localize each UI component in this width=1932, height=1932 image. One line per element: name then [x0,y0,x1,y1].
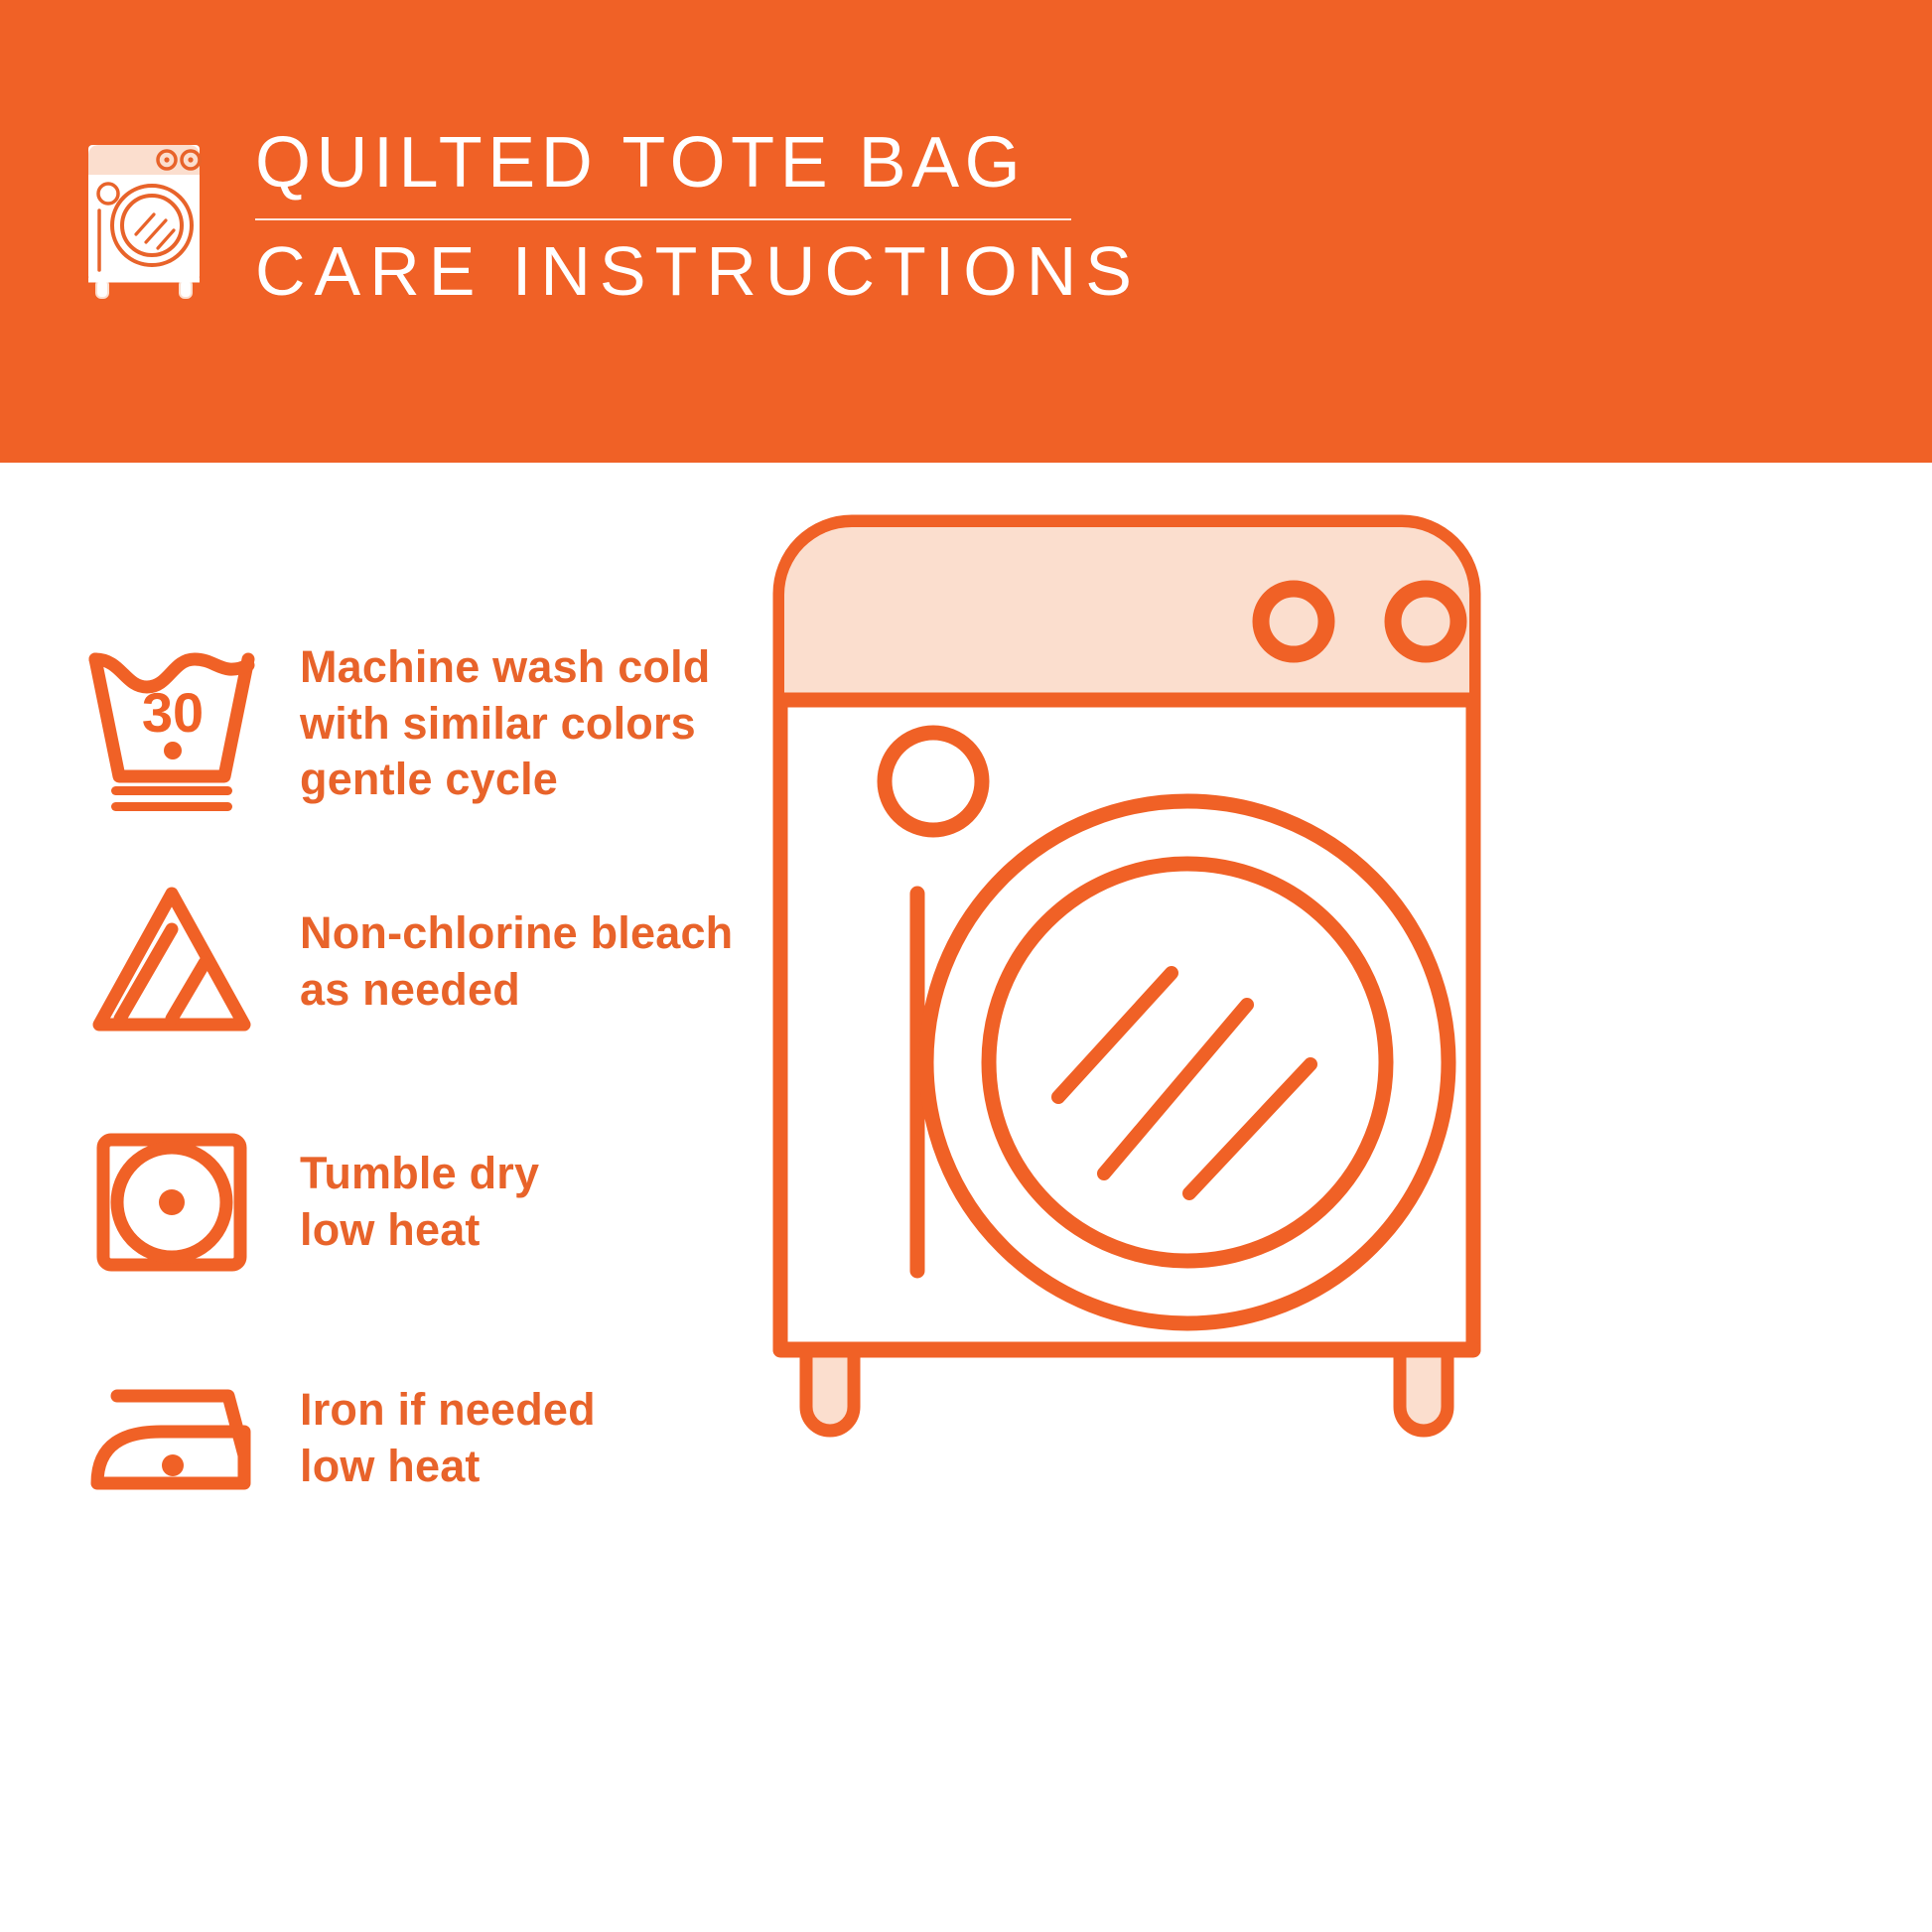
care-instruction-text-dry: Tumble dry low heat [300,1146,539,1258]
care-line: low heat [300,1202,539,1259]
header-title-group: QUILTED TOTE BAG CARE INSTRUCTIONS [255,127,1141,306]
care-instruction-text-wash: Machine wash cold with similar colors ge… [300,639,711,808]
tumble-dry-low-icon [77,1108,266,1297]
wash-tub-30-icon: 30 [77,629,266,818]
washing-machine-icon [74,131,213,305]
care-line: with similar colors [300,696,711,753]
iron-low-heat-icon [77,1344,266,1533]
care-instruction-text-iron: Iron if needed low heat [300,1382,596,1494]
care-line: as needed [300,962,733,1019]
care-line: low heat [300,1439,596,1495]
care-line: Iron if needed [300,1382,596,1439]
wash-temp-label: 30 [142,681,204,744]
machine-leg-left [806,1345,854,1431]
control-panel [784,527,1469,699]
care-line: Non-chlorine bleach [300,905,733,962]
non-chlorine-bleach-triangle-icon [77,868,266,1056]
care-line: gentle cycle [300,752,711,808]
machine-leg-right [1400,1345,1448,1431]
control-knob-right[interactable] [1393,589,1458,654]
page-title: QUILTED TOTE BAG [255,127,1026,212]
header-banner: QUILTED TOTE BAG CARE INSTRUCTIONS [0,0,1932,463]
control-knob-left[interactable] [1261,589,1326,654]
care-line: Machine wash cold [300,639,711,696]
care-instruction-text-bleach: Non-chlorine bleach as needed [300,905,733,1018]
front-load-washing-machine-illustration [755,496,1549,1499]
care-line: Tumble dry [300,1146,539,1202]
page-subtitle: CARE INSTRUCTIONS [255,236,1141,306]
title-divider [255,218,1071,220]
header-content: QUILTED TOTE BAG CARE INSTRUCTIONS [74,127,1141,306]
